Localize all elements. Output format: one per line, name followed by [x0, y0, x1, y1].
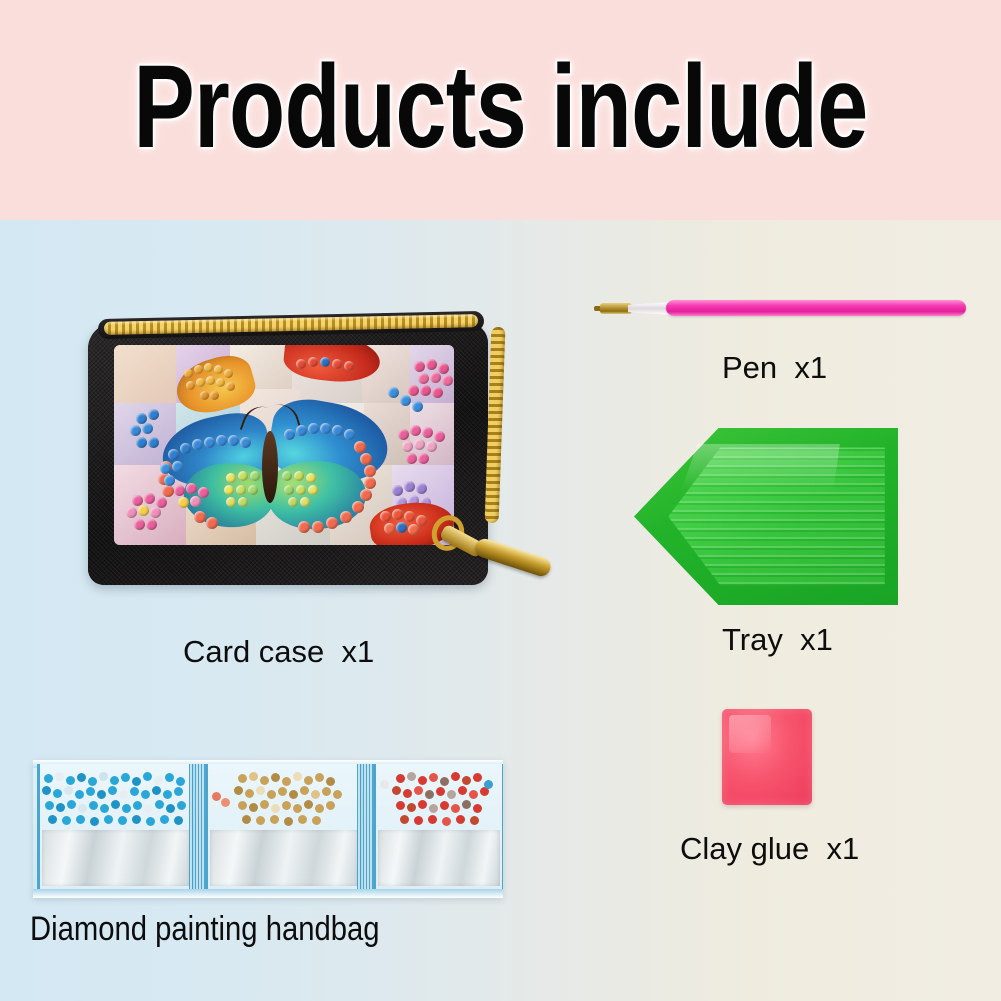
pen-image	[588, 290, 978, 330]
card-case-image	[88, 305, 498, 590]
handbag-bag-blue	[37, 764, 195, 894]
pen-gold-tip	[600, 303, 632, 314]
handbag-stones-gold	[208, 770, 360, 830]
handbag-bag-red	[373, 764, 503, 894]
tray-label: Tray x1	[722, 623, 833, 657]
card-case-butterfly-print	[114, 345, 454, 545]
handbag-image	[33, 760, 503, 898]
handbag-foil-label-gold	[210, 830, 358, 886]
butterfly-body	[262, 431, 278, 503]
handbag-label: Diamond painting handbag	[30, 912, 380, 946]
header-banner: Products include	[0, 0, 1001, 220]
handbag-foil-label-red	[378, 830, 500, 886]
handbag-bag-gold	[205, 764, 363, 894]
clay-glue-image	[722, 709, 812, 805]
handbag-stones-red	[376, 770, 502, 830]
card-case-label: Card case x1	[183, 635, 374, 669]
pen-barrel	[666, 300, 966, 316]
handbag-bottom-seal	[33, 889, 503, 898]
clay-glue-highlight	[729, 715, 770, 753]
products-panel: Card case x1 Pen x1 Tray x1 Clay glue x1	[0, 220, 1001, 1001]
handbag-seam-2	[357, 764, 373, 894]
tray-image	[634, 428, 898, 605]
page-title: Products include	[110, 48, 891, 166]
tray-highlight	[682, 444, 840, 490]
clay-glue-label: Clay glue x1	[680, 832, 859, 866]
product-infographic: Products include	[0, 0, 1001, 1001]
handbag-stones-blue	[40, 770, 192, 830]
handbag-seam-1	[189, 764, 205, 894]
pen-label: Pen x1	[722, 351, 827, 385]
handbag-foil-label-blue	[42, 830, 190, 886]
